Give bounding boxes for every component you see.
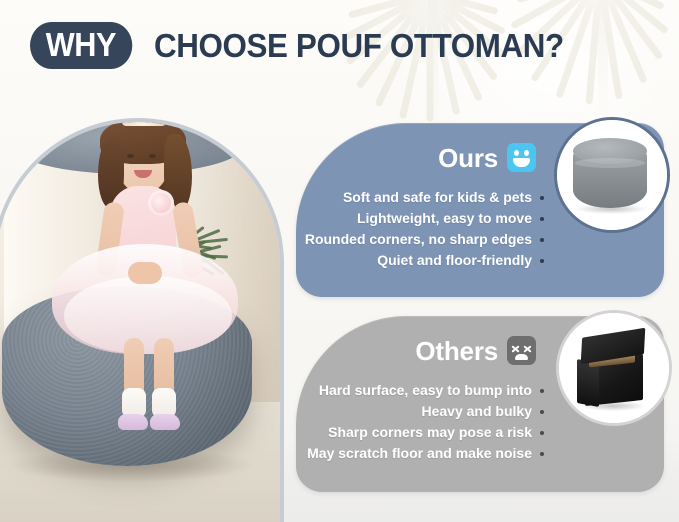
smiling-face-eye-right bbox=[524, 150, 529, 156]
photo-girl bbox=[70, 122, 220, 446]
list-item: Hard surface, easy to bump into bbox=[307, 380, 546, 401]
confounded-face-mouth bbox=[515, 354, 528, 360]
girl-dress-tulle-layer bbox=[64, 276, 232, 354]
confounded-face-icon bbox=[507, 336, 536, 365]
why-badge: WHY bbox=[30, 22, 132, 69]
girl-shoe-left bbox=[118, 414, 148, 430]
girl-hands bbox=[128, 262, 162, 284]
ours-heading: Ours bbox=[438, 145, 498, 171]
list-item: Rounded corners, no sharp edges bbox=[305, 229, 546, 250]
ours-benefit-list: Soft and safe for kids & petsLightweight… bbox=[305, 187, 546, 271]
list-item: Heavy and bulky bbox=[307, 401, 546, 422]
confounded-face-eye-right bbox=[523, 344, 532, 353]
others-product-thumbnail bbox=[556, 310, 672, 426]
ours-thumbnail-pouf-seam bbox=[575, 158, 645, 168]
ours-thumbnail-image bbox=[557, 120, 667, 230]
girl-eye-right bbox=[149, 154, 156, 158]
girl-eye-left bbox=[127, 154, 134, 158]
ours-panel-header: Ours bbox=[438, 143, 536, 172]
list-item: Quiet and floor-friendly bbox=[305, 250, 546, 271]
girl-shoe-right bbox=[150, 414, 180, 430]
hero-photo-image bbox=[0, 122, 280, 522]
others-drawback-list: Hard surface, easy to bump intoHeavy and… bbox=[307, 380, 546, 464]
hero-photo bbox=[0, 118, 284, 522]
others-panel-header: Others bbox=[415, 336, 536, 365]
others-thumbnail-image bbox=[559, 313, 669, 423]
list-item: Lightweight, easy to move bbox=[305, 208, 546, 229]
girl-dress-rosette bbox=[148, 190, 174, 216]
girl-headband bbox=[122, 122, 166, 126]
list-item: May scratch floor and make noise bbox=[307, 443, 546, 464]
page-header: WHY CHOOSE POUF OTTOMAN? bbox=[30, 22, 585, 69]
smiling-face-eye-left bbox=[514, 150, 519, 156]
infographic-canvas: WHY CHOOSE POUF OTTOMAN? bbox=[0, 0, 679, 522]
ours-product-thumbnail bbox=[554, 117, 670, 233]
smiling-face-mouth bbox=[513, 158, 530, 167]
list-item: Sharp corners may pose a risk bbox=[307, 422, 546, 443]
smiling-face-icon bbox=[507, 143, 536, 172]
page-title: CHOOSE POUF OTTOMAN? bbox=[154, 29, 564, 62]
confounded-face-eye-left bbox=[511, 344, 520, 353]
list-item: Soft and safe for kids & pets bbox=[305, 187, 546, 208]
others-heading: Others bbox=[415, 338, 498, 364]
